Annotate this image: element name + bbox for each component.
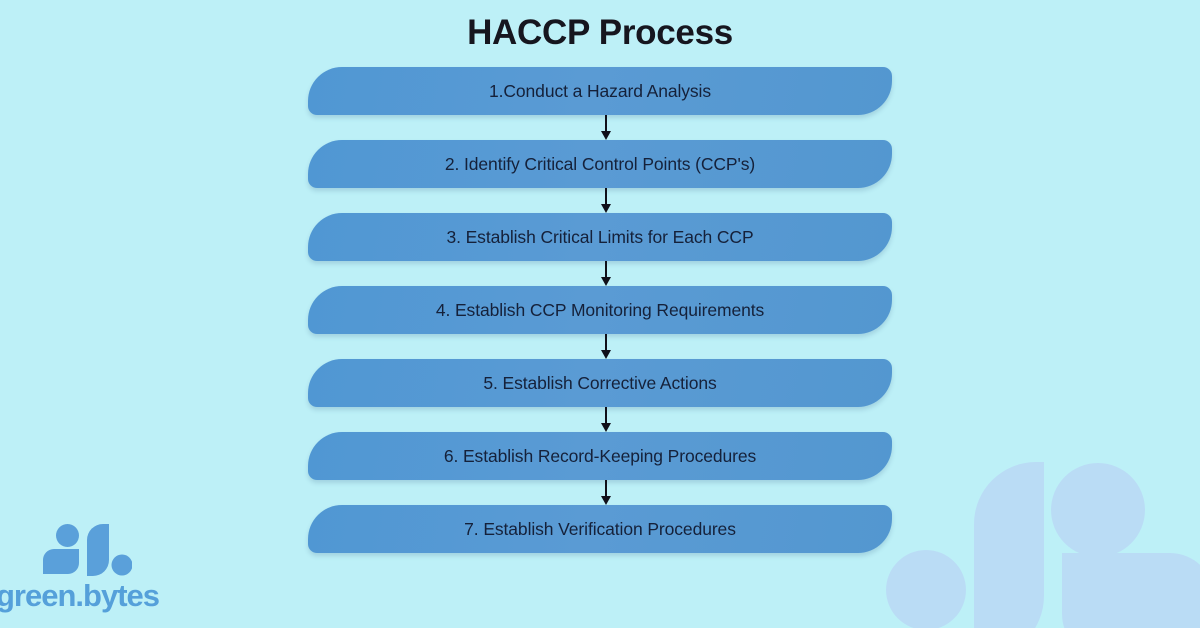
process-step-box[interactable]: 3. Establish Critical Limits for Each CC… [308, 213, 892, 261]
arrow-head [601, 496, 611, 505]
process-step-2: 2. Identify Critical Control Points (CCP… [308, 140, 892, 213]
arrow-shaft [605, 261, 607, 279]
arrow-down-icon [600, 261, 612, 286]
arrow-head [601, 350, 611, 359]
brand-wordmark: green.bytes [0, 576, 211, 616]
greenbytes-people-logo-icon [40, 524, 132, 576]
infographic-canvas: HACCP Process 1.Conduct a Hazard Analysi… [0, 0, 1200, 628]
process-step-box[interactable]: 7. Establish Verification Procedures [308, 505, 892, 553]
process-step-label: 5. Establish Corrective Actions [483, 373, 716, 394]
arrow-shaft [605, 407, 607, 425]
process-step-label: 3. Establish Critical Limits for Each CC… [446, 227, 753, 248]
page-title: HACCP Process [0, 11, 1200, 55]
process-step-label: 2. Identify Critical Control Points (CCP… [445, 154, 755, 175]
arrow-shaft [605, 334, 607, 352]
arrow-head [601, 131, 611, 140]
arrow-down-icon [600, 188, 612, 213]
arrow-down-icon [600, 480, 612, 505]
process-step-box[interactable]: 2. Identify Critical Control Points (CCP… [308, 140, 892, 188]
arrow-head [601, 277, 611, 286]
arrow-head [601, 423, 611, 432]
process-step-6: 6. Establish Record-Keeping Procedures [308, 432, 892, 505]
process-step-1: 1.Conduct a Hazard Analysis [308, 67, 892, 140]
arrow-down-icon [600, 115, 612, 140]
process-step-3: 3. Establish Critical Limits for Each CC… [308, 213, 892, 286]
brand-logo: green.bytes [0, 524, 211, 620]
process-step-box[interactable]: 4. Establish CCP Monitoring Requirements [308, 286, 892, 334]
process-step-7: 7. Establish Verification Procedures [308, 505, 892, 578]
arrow-down-icon [600, 407, 612, 432]
arrow-shaft [605, 188, 607, 206]
process-step-box[interactable]: 5. Establish Corrective Actions [308, 359, 892, 407]
arrow-shaft [605, 115, 607, 133]
haccp-process-flow: 1.Conduct a Hazard Analysis2. Identify C… [308, 67, 892, 565]
arrow-head [601, 204, 611, 213]
process-step-4: 4. Establish CCP Monitoring Requirements [308, 286, 892, 359]
process-step-5: 5. Establish Corrective Actions [308, 359, 892, 432]
process-step-label: 1.Conduct a Hazard Analysis [489, 81, 711, 102]
arrow-shaft [605, 480, 607, 498]
greenbytes-people-logo-watermark-icon [878, 438, 1200, 628]
process-step-label: 6. Establish Record-Keeping Procedures [444, 446, 756, 467]
process-step-box[interactable]: 1.Conduct a Hazard Analysis [308, 67, 892, 115]
process-step-label: 4. Establish CCP Monitoring Requirements [436, 300, 764, 321]
process-step-box[interactable]: 6. Establish Record-Keeping Procedures [308, 432, 892, 480]
arrow-down-icon [600, 334, 612, 359]
process-step-label: 7. Establish Verification Procedures [464, 519, 736, 540]
